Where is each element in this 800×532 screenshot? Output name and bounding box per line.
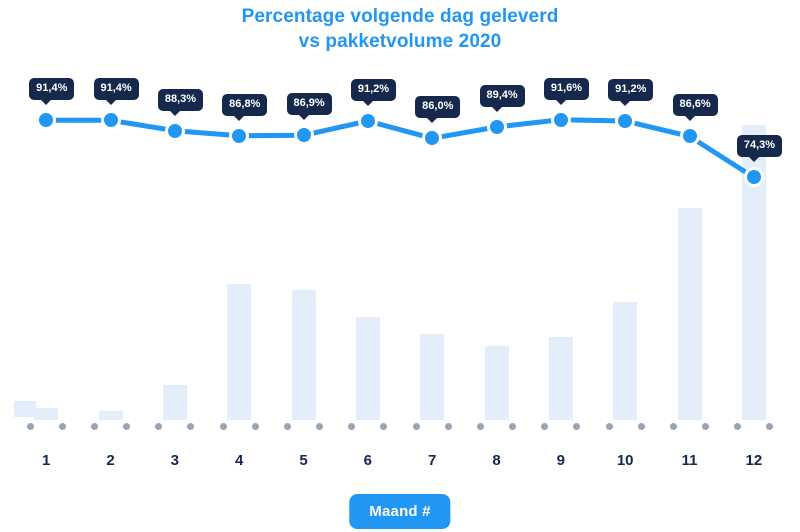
- value-label-month-3: 88,3%: [158, 89, 203, 111]
- plot-area: 91,4%91,4%88,3%86,8%86,9%91,2%86,0%89,4%…: [14, 60, 786, 435]
- value-label-month-12: 74,3%: [737, 135, 782, 157]
- x-axis-tick-labels: 123456789101112: [14, 452, 786, 476]
- x-tick-7: 7: [417, 452, 447, 469]
- x-tick-8: 8: [482, 452, 512, 469]
- decorative-strip: [14, 401, 36, 417]
- x-tick-3: 3: [160, 452, 190, 469]
- value-label-month-10: 91,2%: [608, 79, 653, 101]
- value-label-month-5: 86,9%: [287, 93, 332, 115]
- value-callouts: 91,4%91,4%88,3%86,8%86,9%91,2%86,0%89,4%…: [14, 60, 786, 435]
- chart-title: Percentage volgende dag geleverd vs pakk…: [0, 4, 800, 54]
- x-tick-11: 11: [675, 452, 705, 469]
- x-tick-5: 5: [289, 452, 319, 469]
- value-label-month-4: 86,8%: [222, 94, 267, 116]
- x-tick-12: 12: [739, 452, 769, 469]
- value-label-month-2: 91,4%: [94, 78, 139, 100]
- value-label-month-11: 86,6%: [673, 94, 718, 116]
- chart-title-line-2: vs pakketvolume 2020: [0, 29, 800, 54]
- value-label-month-6: 91,2%: [351, 79, 396, 101]
- value-label-month-7: 86,0%: [415, 96, 460, 118]
- x-tick-9: 9: [546, 452, 576, 469]
- chart-container: Percentage volgende dag geleverd vs pakk…: [0, 0, 800, 532]
- x-axis-title-pill: Maand #: [349, 494, 450, 529]
- x-tick-10: 10: [610, 452, 640, 469]
- value-label-month-9: 91,6%: [544, 78, 589, 100]
- value-label-month-1: 91,4%: [29, 78, 74, 100]
- x-tick-2: 2: [96, 452, 126, 469]
- x-tick-4: 4: [224, 452, 254, 469]
- x-tick-1: 1: [31, 452, 61, 469]
- value-label-month-8: 89,4%: [480, 85, 525, 107]
- chart-title-line-1: Percentage volgende dag geleverd: [242, 6, 559, 27]
- x-tick-6: 6: [353, 452, 383, 469]
